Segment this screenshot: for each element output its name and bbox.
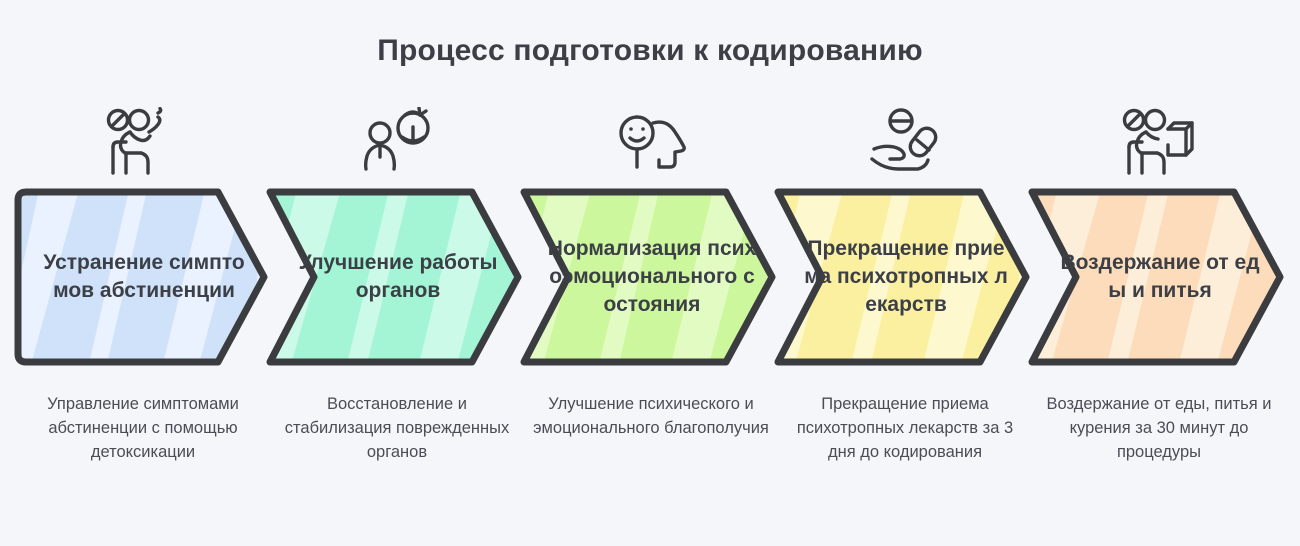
person-recovery-arrow-icon xyxy=(268,100,526,186)
step-caption-4: Прекращение приема психотропных лекарств… xyxy=(784,392,1026,464)
page-title: Процесс подготовки к кодированию xyxy=(0,34,1300,68)
step-caption-3: Улучшение психического и эмоционального … xyxy=(530,392,772,440)
process-step-1[interactable]: Устранение симптомов абстиненции Управле… xyxy=(14,100,272,530)
step-caption-2: Восстановление и стабилизация поврежденн… xyxy=(276,392,518,464)
head-smiley-mental-health-icon xyxy=(522,100,780,186)
chevron-shape-3 xyxy=(518,186,790,368)
hand-pills-medication-icon xyxy=(776,100,1034,186)
step-caption-5: Воздержание от еды, питья и курения за 3… xyxy=(1038,392,1280,464)
chevron-shape-2 xyxy=(264,186,536,368)
no-eating-seated-person-icon xyxy=(1030,100,1288,186)
chevron-shape-5 xyxy=(1026,186,1298,368)
process-step-3[interactable]: Нормализация психоэмоционального состоян… xyxy=(522,100,780,530)
no-smoking-seated-person-icon xyxy=(14,100,272,186)
process-step-2[interactable]: Улучшение работы органов Восстановление … xyxy=(268,100,526,530)
process-flow: Устранение симптомов абстиненции Управле… xyxy=(0,100,1300,530)
process-step-4[interactable]: Прекращение приема психотропных лекарств… xyxy=(776,100,1034,530)
chevron-shape-1 xyxy=(10,186,282,368)
process-step-5[interactable]: Воздержание от еды и питья Воздержание о… xyxy=(1030,100,1288,530)
step-caption-1: Управление симптомами абстиненции с помо… xyxy=(22,392,264,464)
chevron-shape-4 xyxy=(772,186,1044,368)
